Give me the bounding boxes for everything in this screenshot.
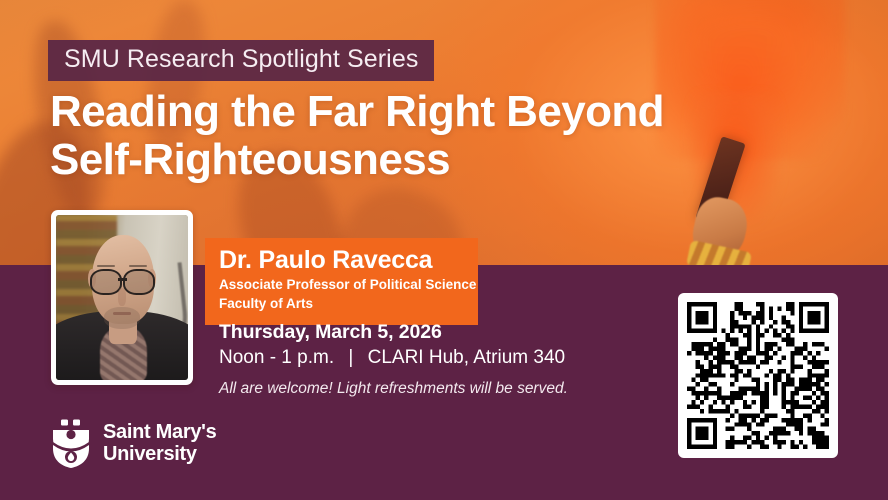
event-time-location: Noon - 1 p.m. | CLARI Hub, Atrium 340: [219, 345, 568, 371]
speaker-portrait: [51, 210, 193, 385]
event-note: All are welcome! Light refreshments will…: [219, 378, 568, 400]
detail-separator: |: [339, 347, 362, 368]
smu-shield-crest-icon: [50, 418, 92, 468]
speaker-info-block: Dr. Paulo Ravecca Associate Professor of…: [205, 238, 478, 325]
title-line-1: Reading the Far Right Beyond: [50, 88, 750, 136]
photo-nose: [118, 288, 126, 306]
event-poster: SMU Research Spotlight Series Reading th…: [0, 0, 888, 500]
speaker-role: Associate Professor of Political Science: [219, 275, 464, 294]
university-logo: Saint Mary's University: [50, 418, 216, 468]
speaker-name: Dr. Paulo Ravecca: [219, 246, 464, 274]
qr-code[interactable]: [687, 302, 829, 449]
event-details: Thursday, March 5, 2026 Noon - 1 p.m. | …: [219, 320, 568, 400]
page-title: Reading the Far Right Beyond Self-Righte…: [50, 88, 750, 184]
logo-line-1: Saint Mary's: [103, 421, 216, 443]
photo-mouth: [113, 312, 131, 315]
photo-eyebrow: [129, 265, 147, 267]
title-line-2: Self-Righteousness: [50, 136, 750, 184]
photo-eyebrow: [97, 265, 115, 267]
speaker-photo: [56, 215, 188, 380]
series-badge: SMU Research Spotlight Series: [48, 40, 434, 81]
event-time: Noon - 1 p.m.: [219, 347, 334, 368]
speaker-faculty: Faculty of Arts: [219, 294, 464, 313]
university-wordmark: Saint Mary's University: [103, 421, 216, 465]
event-date: Thursday, March 5, 2026: [219, 320, 568, 344]
logo-line-2: University: [103, 443, 216, 465]
event-location: CLARI Hub, Atrium 340: [368, 347, 565, 368]
photo-beard: [104, 307, 141, 328]
qr-code-panel[interactable]: [678, 293, 838, 458]
